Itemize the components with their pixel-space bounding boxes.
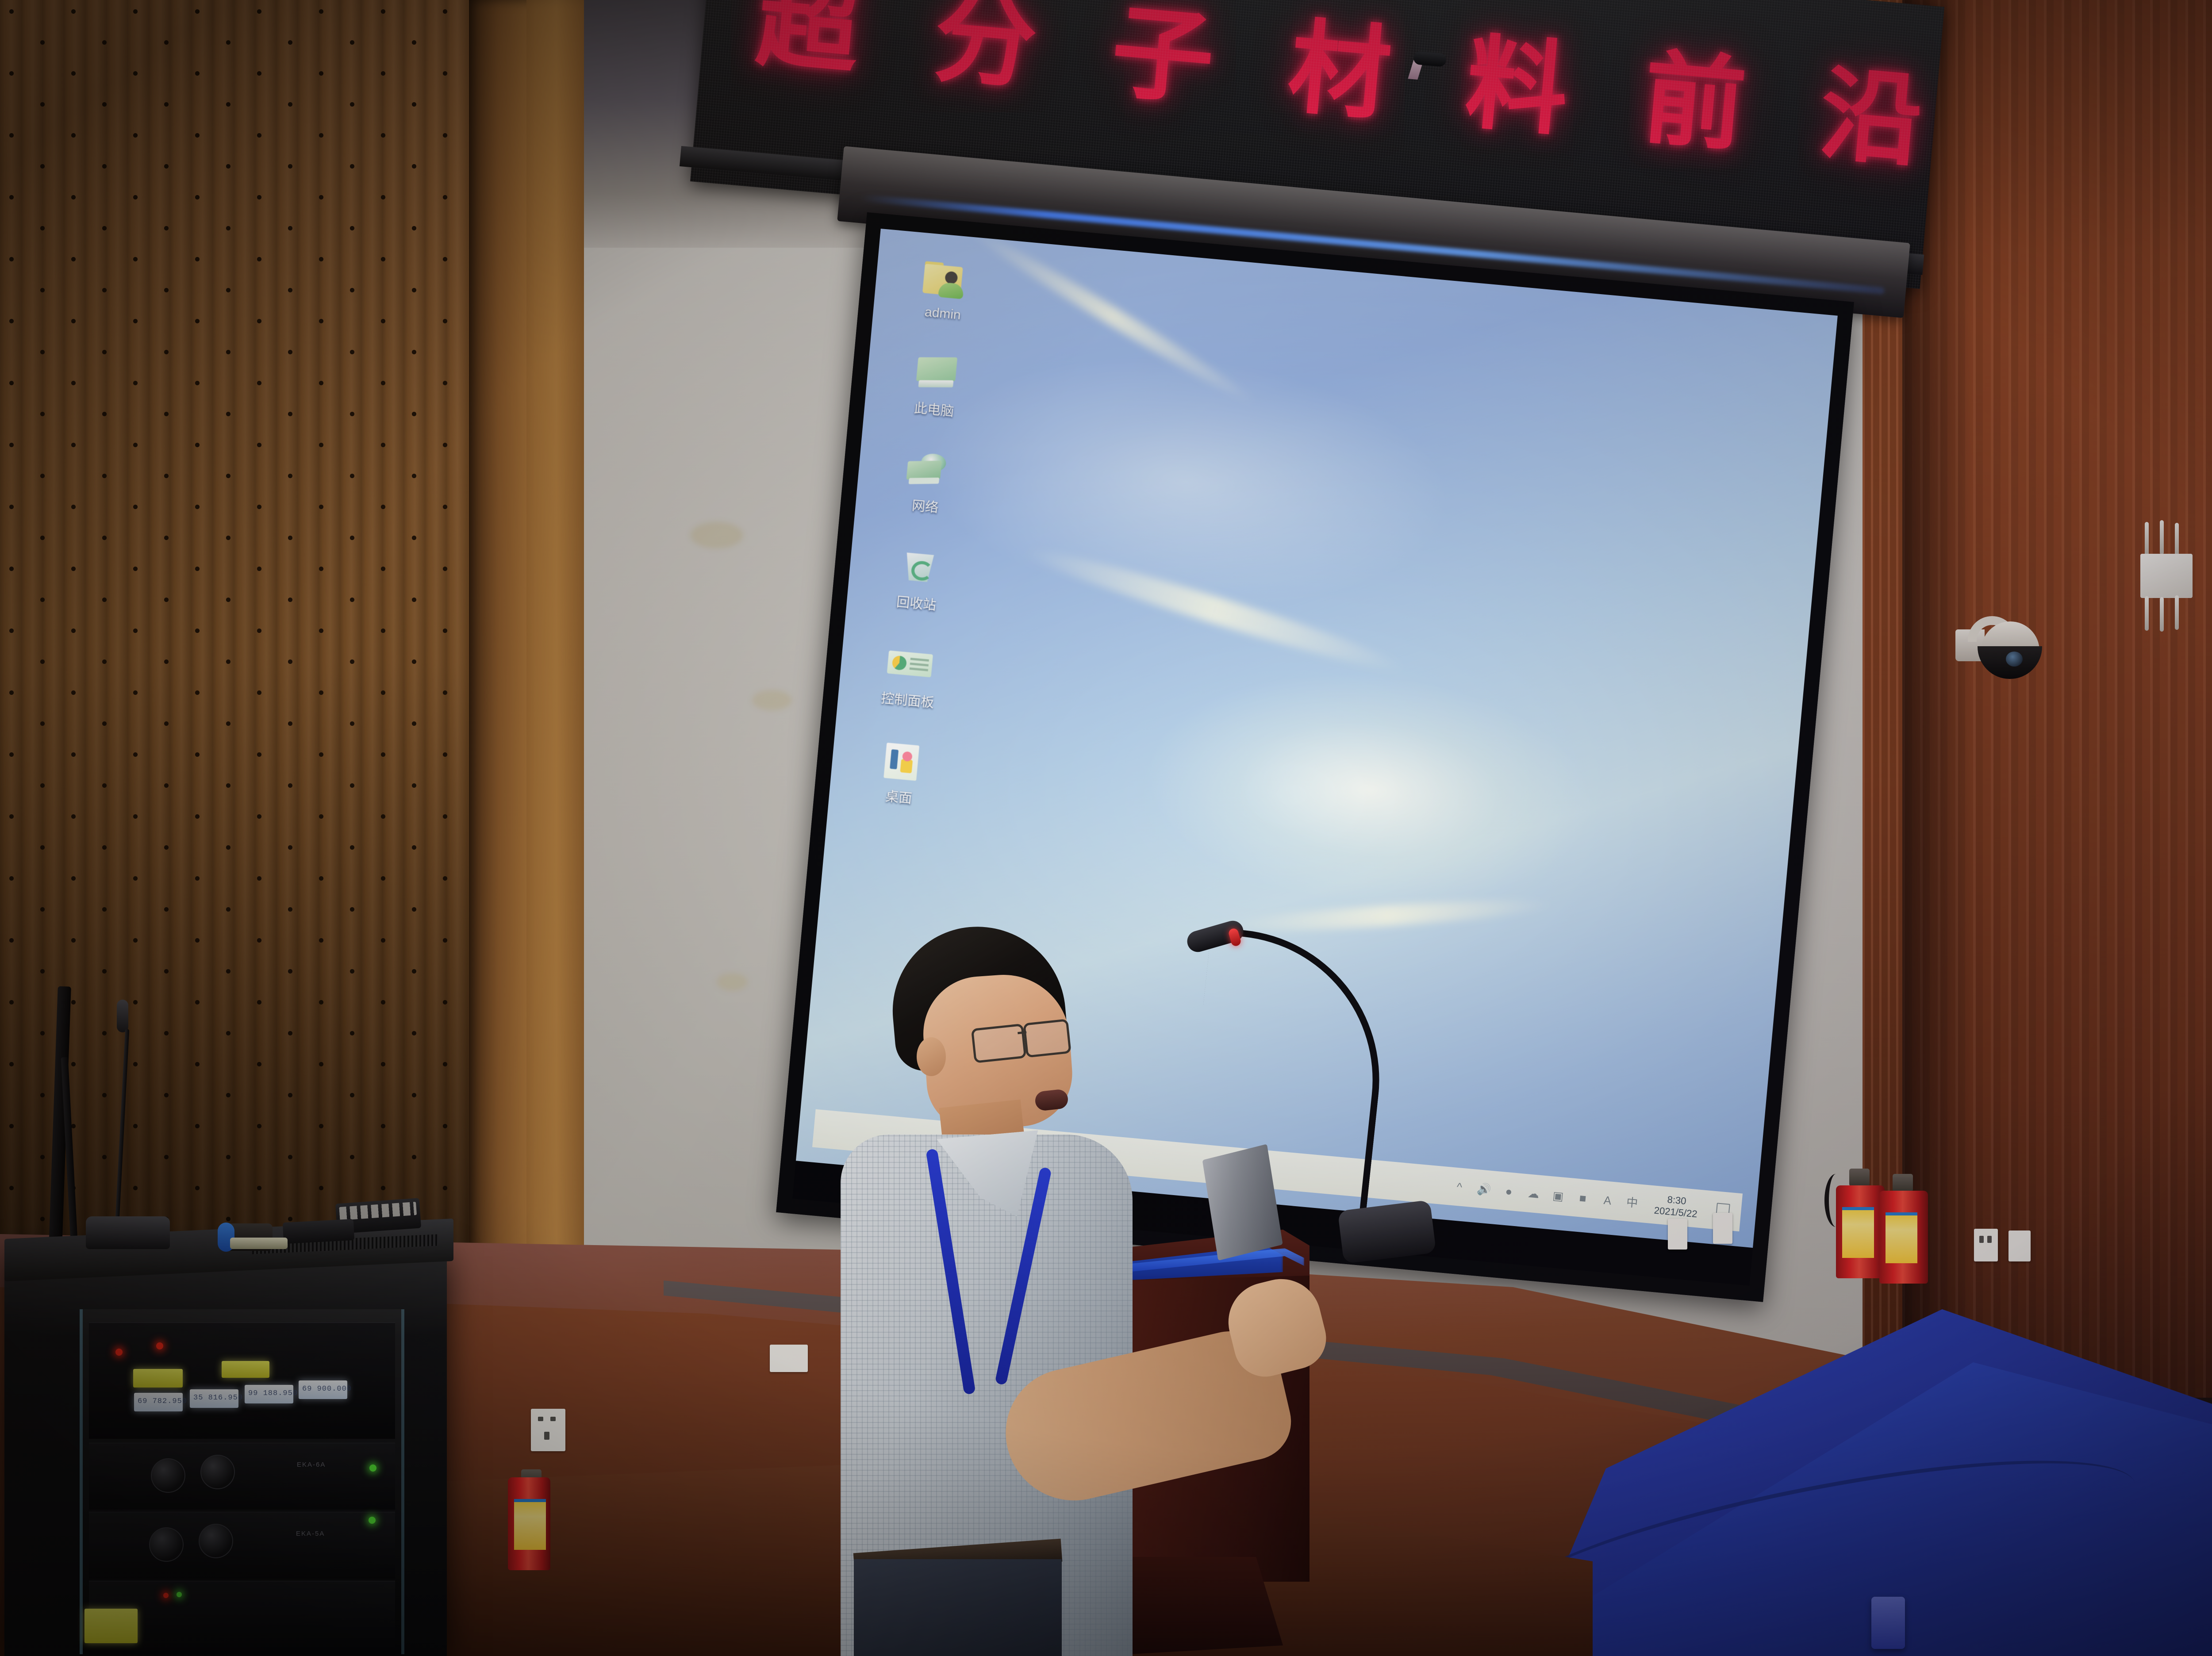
conference-microphone [80, 1000, 181, 1265]
desktop-icon-label: 回收站 [896, 591, 937, 614]
fire-extinguisher-icon [508, 1468, 550, 1570]
wall-socket[interactable] [2008, 1230, 2031, 1261]
ear [917, 1037, 946, 1076]
status-led-red [156, 1342, 163, 1349]
speaker-person [814, 927, 1274, 1656]
desktop-icon-this-pc[interactable]: 此电脑 [891, 350, 981, 422]
mixer-lcd [84, 1609, 138, 1643]
access-point-body [2140, 554, 2193, 598]
remote-control[interactable] [283, 1219, 354, 1244]
pen [230, 1238, 288, 1249]
wifi-access-point-icon [2132, 522, 2208, 650]
microphone-base [86, 1216, 170, 1249]
receiver-lcd-white: 35 816.950 [190, 1389, 238, 1408]
ime-chinese-icon[interactable]: 中 [1625, 1196, 1640, 1210]
remote-buttons [339, 1202, 417, 1220]
lanyard-strap [995, 1167, 1052, 1385]
desktop-icon-label: 桌面 [885, 785, 913, 807]
status-led-red [115, 1349, 123, 1356]
ceiling-camera-icon [1406, 50, 1451, 79]
desktop-docs-icon [876, 740, 928, 784]
extinguisher-label [1886, 1212, 1917, 1263]
socket-hole [1979, 1236, 1984, 1243]
antenna-icon [2145, 522, 2149, 556]
fire-extinguisher-icon [1879, 1173, 1928, 1284]
amplifier-unit: EKA-5A [89, 1512, 395, 1579]
status-led-green [369, 1517, 376, 1524]
amplifier-knob[interactable] [200, 1455, 235, 1489]
camera-lens-icon [2006, 652, 2023, 667]
rack-glass-door[interactable]: 69 782.950 35 816.950 99 188.950 69 900.… [80, 1309, 404, 1654]
lanyard-strap [926, 1148, 975, 1395]
socket-hole [550, 1417, 556, 1421]
desktop-icon-label: 此电脑 [914, 397, 955, 420]
antenna-icon [2160, 520, 2164, 555]
recycle-bin-icon [894, 545, 945, 590]
wall-plate[interactable] [770, 1345, 808, 1372]
taskbar-clock[interactable]: 8:30 2021/5/22 [1654, 1193, 1699, 1220]
amplifier-knob[interactable] [199, 1524, 233, 1558]
screenshot-icon[interactable]: ▣ [1551, 1188, 1566, 1203]
extinguisher-label [514, 1499, 546, 1550]
socket-hole [538, 1417, 543, 1421]
antenna-icon [2160, 597, 2164, 632]
ptz-dome-camera-icon [1955, 604, 2048, 681]
desktop-icon-network[interactable]: 网络 [883, 447, 972, 519]
trousers [854, 1559, 1062, 1656]
network-icon [903, 448, 954, 493]
battery-icon[interactable]: ■ [1575, 1191, 1590, 1205]
microphone-gooseneck [115, 1029, 129, 1219]
extinguisher-label [1842, 1207, 1874, 1258]
wireless-receiver-unit: 69 782.950 35 816.950 99 188.950 69 900.… [89, 1322, 395, 1439]
extinguisher-valve [1849, 1169, 1870, 1186]
this-pc-icon [912, 352, 963, 396]
fire-extinguisher-icon [1836, 1168, 1885, 1278]
desktop-icon-control-panel[interactable]: 控制面板 [865, 641, 954, 713]
extinguisher-valve [1893, 1174, 1913, 1192]
socket-hole [544, 1432, 549, 1440]
blue-bottle-cap [1871, 1597, 1905, 1649]
wall-socket[interactable] [1974, 1229, 1998, 1261]
volume-icon[interactable]: 🔊 [1477, 1182, 1491, 1196]
control-panel-icon [885, 642, 937, 687]
microphone-base [1337, 1200, 1436, 1264]
wall-stain [690, 522, 743, 548]
network-status-icon[interactable]: ● [1502, 1184, 1516, 1199]
glasses-lens [1023, 1019, 1071, 1058]
lecture-hall-photo: 超 分 子 材 料 前 沿 论 坛 admin [0, 0, 2212, 1656]
receiver-lcd-white: 99 188.950 [245, 1385, 293, 1403]
cloud-icon[interactable]: ☁ [1526, 1186, 1541, 1201]
receiver-frequency: 35 816.950 [190, 1389, 238, 1402]
desktop-icon-admin[interactable]: admin [900, 257, 990, 325]
desktop-icon-label: 控制面板 [880, 687, 935, 711]
receiver-frequency: 69 900.000 [299, 1380, 347, 1393]
antenna-icon [2175, 595, 2179, 630]
amplifier-knob[interactable] [149, 1527, 184, 1562]
mixer-unit [89, 1581, 395, 1655]
user-folder-icon [920, 259, 972, 304]
mouth [1034, 1089, 1069, 1111]
receiver-frequency: 69 782.950 [134, 1393, 183, 1406]
system-tray[interactable]: ^ 🔊 ● ☁ ▣ ■ Α 中 [1452, 1180, 1640, 1210]
status-led-green [369, 1464, 376, 1472]
antenna-icon [2145, 596, 2149, 631]
amplifier-unit: EKA-6A [89, 1443, 395, 1510]
desktop-icon-list: admin 此电脑 网络 [856, 257, 1051, 815]
antenna-icon [2175, 523, 2179, 557]
receiver-lcd-yellow [222, 1361, 269, 1378]
receiver-lcd-yellow [133, 1369, 183, 1388]
desktop-icon-desktop-docs[interactable]: 桌面 [856, 738, 945, 810]
clock-time: 8:30 [1667, 1194, 1687, 1207]
clock-date: 2021/5/22 [1654, 1205, 1698, 1221]
wall-plate[interactable] [1668, 1219, 1687, 1250]
desktop-icon-label: admin [924, 305, 961, 323]
wallpaper-light-ray [1021, 538, 1409, 681]
wall-socket[interactable] [531, 1409, 565, 1451]
language-a-icon[interactable]: Α [1600, 1193, 1615, 1208]
glasses-lens [971, 1023, 1027, 1063]
receiver-frequency: 99 188.950 [245, 1385, 293, 1398]
desktop-icon-recycle-bin[interactable]: 回收站 [874, 544, 963, 616]
socket-hole [1987, 1236, 1992, 1243]
wall-stain [752, 690, 792, 710]
wall-stain [717, 973, 748, 991]
amplifier-knob[interactable] [151, 1458, 185, 1493]
receiver-lcd-white: 69 782.950 [134, 1393, 183, 1411]
amplifier-model-label: EKA-5A [296, 1530, 325, 1537]
receiver-lcd-white: 69 900.000 [299, 1380, 347, 1399]
av-equipment-rack: 69 782.950 35 816.950 99 188.950 69 900.… [4, 1256, 447, 1656]
wall-plate[interactable] [1713, 1213, 1732, 1244]
desktop-icon-label: 网络 [911, 494, 940, 516]
microphone-capsule [117, 1000, 128, 1032]
amplifier-model-label: EKA-6A [297, 1461, 326, 1468]
status-led-red [163, 1593, 169, 1598]
status-led-green [177, 1592, 182, 1597]
show-hidden-icons-chevron-icon[interactable]: ^ [1452, 1180, 1467, 1194]
